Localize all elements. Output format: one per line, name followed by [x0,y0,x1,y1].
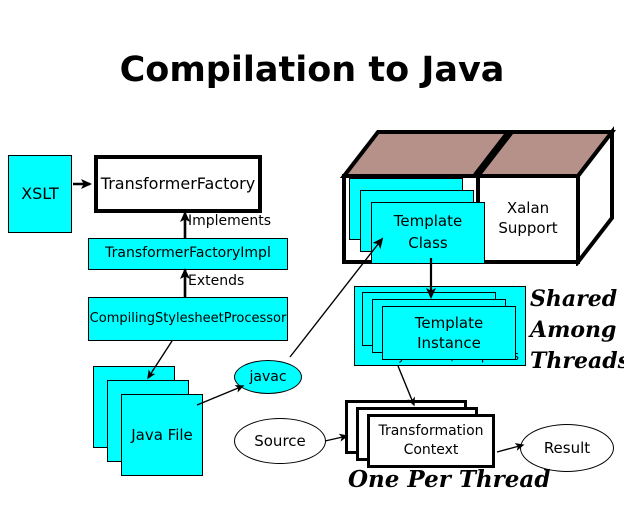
shared-line-1: Shared [530,284,624,315]
implements-label: Implements [188,213,271,229]
transformer-factory-box[interactable]: TransformerFactory [94,155,262,213]
extends-label: Extends [188,273,244,289]
diagram-canvas: Compilation to Java [0,0,624,528]
transformation-context-box[interactable]: Transformation Context [367,414,495,468]
template-instance-line1: Template [415,313,483,333]
one-per-thread-annotation: One Per Thread [348,466,550,493]
xslt-box[interactable]: XSLT [8,155,72,233]
template-class-line1: Template [394,211,462,233]
template-class-line2: Class [408,233,447,255]
transformation-context-line2: Context [404,441,459,460]
page-title: Compilation to Java [0,50,624,90]
arrow-javafile-to-javac [197,386,243,405]
shared-line-2: Among [530,315,624,346]
result-ellipse[interactable]: Result [520,424,614,472]
transformation-context-line1: Transformation [378,422,483,441]
template-class-box[interactable]: Template Class [371,202,485,264]
javac-ellipse[interactable]: javac [234,360,302,394]
shared-among-threads-annotation: Shared Among Threads [530,284,624,378]
transformer-factory-impl-box[interactable]: TransformerFactoryImpl [88,238,288,270]
java-file-box[interactable]: Java File [121,394,203,476]
compiling-stylesheet-processor-box[interactable]: CompilingStylesheetProcessor [88,297,288,341]
source-ellipse[interactable]: Source [234,418,326,464]
shared-line-3: Threads [530,346,624,377]
template-instance-line2: Instance [417,333,481,353]
xalan-support-line1: Xalan [480,198,576,218]
xalan-support-label: Xalan Support [480,198,576,239]
xalan-support-line2: Support [480,218,576,238]
template-instance-box[interactable]: Template Instance [382,306,516,360]
arrow-source-to-context [325,436,347,441]
